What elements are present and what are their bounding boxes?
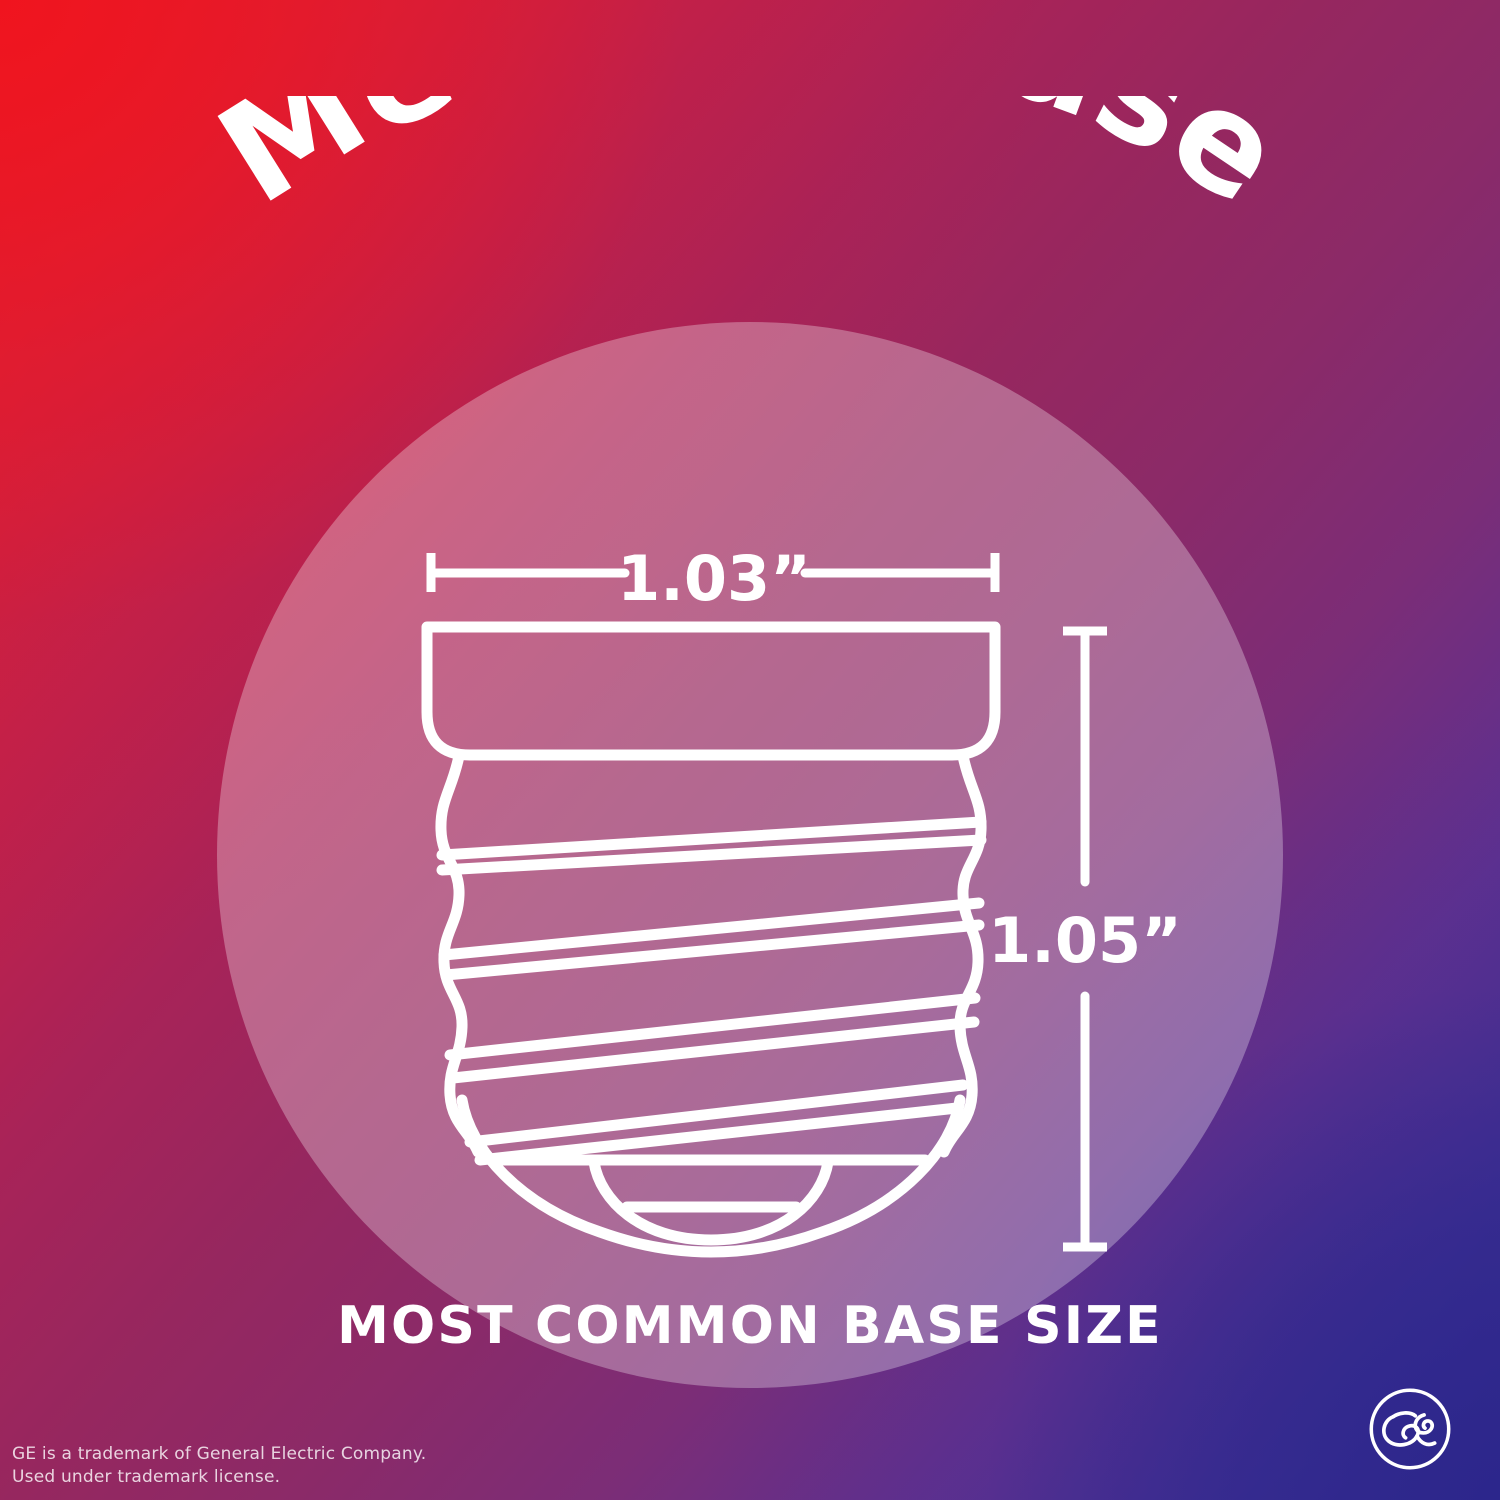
- legal-notice: GE is a trademark of General Electric Co…: [12, 1443, 426, 1490]
- width-dimension: 1.03”: [431, 542, 995, 615]
- legal-line-1: GE is a trademark of General Electric Co…: [12, 1443, 426, 1466]
- caption: MOST COMMON BASE SIZE: [0, 1296, 1500, 1356]
- base-taper-outline: [462, 1100, 960, 1252]
- bulb-base-diagram: 1.03” 1.05”: [0, 0, 1500, 1500]
- thread-edge-right: [944, 756, 981, 1152]
- height-dimension: 1.05”: [988, 631, 1182, 1247]
- legal-line-2: Used under trademark license.: [12, 1466, 426, 1489]
- contact-tip-outline: [594, 1162, 828, 1240]
- infographic-canvas: Medium Base 1.03” 1.05”: [0, 0, 1500, 1500]
- ge-logo-icon: [1366, 1385, 1454, 1473]
- screw-base-illustration: [427, 627, 995, 1252]
- height-dimension-label: 1.05”: [988, 904, 1182, 977]
- width-dimension-label: 1.03”: [617, 542, 811, 615]
- base-collar: [427, 627, 995, 755]
